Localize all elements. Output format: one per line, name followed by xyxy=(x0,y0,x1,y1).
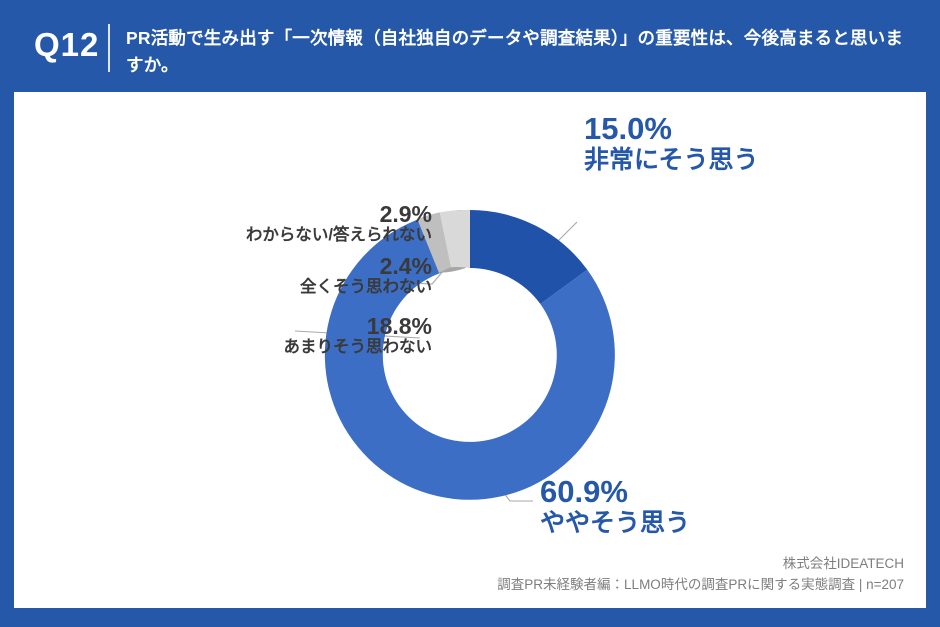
label-never-pct: 2.4% xyxy=(120,254,432,278)
label-very-name: 非常にそう思う xyxy=(584,146,904,175)
label-notso-name: あまりそう思わない xyxy=(74,338,432,357)
question-text: PR活動で生み出す「一次情報（自社独自のデータや調査結果）」の重要性は、今後高ま… xyxy=(126,25,916,79)
label-never: 2.4% 全くそう思わない xyxy=(120,254,432,297)
label-very-pct: 15.0% xyxy=(584,113,904,146)
donut-chart: 2.9% わからない/答えられない 2.4% 全くそう思わない 18.8% あま… xyxy=(14,92,926,608)
label-notso: 18.8% あまりそう思わない xyxy=(74,314,432,357)
label-somewhat: 60.9% ややそう思う xyxy=(540,476,870,537)
header-divider xyxy=(108,24,110,72)
question-header: Q12 PR活動で生み出す「一次情報（自社独自のデータや調査結果）」の重要性は、… xyxy=(0,0,940,92)
label-somewhat-pct: 60.9% xyxy=(540,476,870,509)
chart-footer: 株式会社IDEATECH 調査PR未経験者編：LLMO時代の調査PRに関する実態… xyxy=(497,554,904,596)
label-dontknow: 2.9% わからない/答えられない xyxy=(120,202,432,245)
label-somewhat-name: ややそう思う xyxy=(540,509,870,538)
label-notso-pct: 18.8% xyxy=(74,314,432,338)
slide-root: Q12 PR活動で生み出す「一次情報（自社独自のデータや調査結果）」の重要性は、… xyxy=(0,0,940,627)
label-very: 15.0% 非常にそう思う xyxy=(584,113,904,174)
footer-company: 株式会社IDEATECH xyxy=(497,554,904,575)
footer-survey: 調査PR未経験者編：LLMO時代の調査PRに関する実態調査 | n=207 xyxy=(497,575,904,596)
label-dontknow-pct: 2.9% xyxy=(120,202,432,226)
label-never-name: 全くそう思わない xyxy=(120,278,432,297)
question-number: Q12 xyxy=(34,28,99,61)
label-dontknow-name: わからない/答えられない xyxy=(120,226,432,245)
chart-card: 2.9% わからない/答えられない 2.4% 全くそう思わない 18.8% あま… xyxy=(14,92,926,608)
